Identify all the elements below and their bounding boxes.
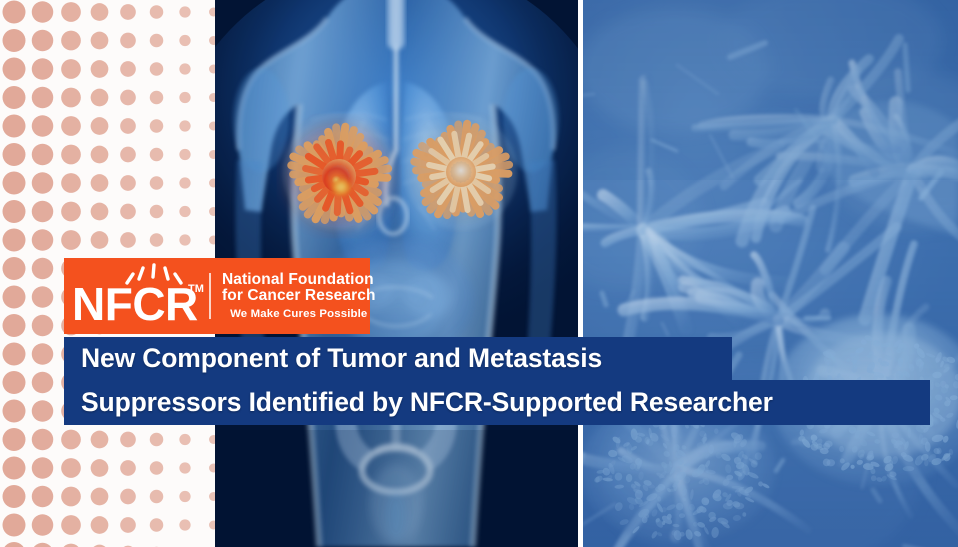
halftone-dot [120,489,136,505]
halftone-dot [150,5,164,19]
halftone-dot [120,175,136,191]
cells-color-tint-overlay [583,0,958,547]
halftone-dot [150,233,164,247]
halftone-dot [179,462,190,473]
logo-divider [209,273,211,319]
halftone-dot [3,314,26,337]
halftone-dot [120,232,136,248]
halftone-dot [150,433,164,447]
halftone-dot [61,88,81,108]
halftone-dot [150,148,164,162]
halftone-dot [3,485,26,508]
headline-line-2: Suppressors Identified by NFCR-Supported… [64,380,930,425]
halftone-dot [179,149,190,160]
halftone-dot [179,35,190,46]
halftone-dot [179,177,190,188]
halftone-dot [3,428,26,451]
halftone-dot [61,31,81,51]
halftone-dot [120,460,136,476]
halftone-dot [150,461,164,475]
svg-text:TM: TM [188,283,204,295]
halftone-dot [3,542,26,547]
halftone-dot [179,206,190,217]
halftone-dot [150,518,164,532]
halftone-dot [32,286,54,308]
halftone-dot [3,343,26,366]
halftone-dot [32,1,54,23]
halftone-dot [32,87,54,109]
halftone-dot [61,430,81,450]
halftone-dot [91,516,109,534]
halftone-dot [32,172,54,194]
halftone-dot [91,117,109,135]
halftone-dot [120,204,136,220]
halftone-dot [91,32,109,50]
halftone-dot [120,147,136,163]
halftone-dot [91,231,109,249]
halftone-dot [61,145,81,165]
halftone-dot [61,458,81,478]
halftone-dot [32,58,54,80]
halftone-dot [91,89,109,107]
halftone-dot [3,1,26,24]
halftone-dot [32,400,54,422]
halftone-dot [179,234,190,245]
halftone-dot [32,486,54,508]
halftone-dot [91,3,109,21]
halftone-dot [61,515,81,535]
halftone-dot [3,143,26,166]
halftone-dot [32,343,54,365]
halftone-dot [179,434,190,445]
halftone-dot [32,429,54,451]
halftone-dot [61,59,81,79]
halftone-dot [3,257,26,280]
halftone-dot [150,205,164,219]
halftone-dot [150,176,164,190]
halftone-dot [3,371,26,394]
halftone-dot [179,491,190,502]
halftone-dot [3,172,26,195]
halftone-dot [3,400,26,423]
halftone-dot [32,30,54,52]
logo-name-line-1: National Foundation [222,272,376,289]
halftone-dot [32,201,54,223]
halftone-dot [91,174,109,192]
halftone-dot [150,34,164,48]
halftone-dot [150,91,164,105]
halftone-dot [32,543,54,547]
halftone-dot [61,487,81,507]
halftone-dot [3,286,26,309]
halftone-dot [179,63,190,74]
halftone-dot [120,4,136,20]
halftone-dot [3,200,26,223]
halftone-dot [32,372,54,394]
halftone-dot [32,514,54,536]
halftone-dot [150,119,164,133]
halftone-dot [3,229,26,252]
halftone-dot [61,544,81,547]
halftone-dot [91,431,109,449]
halftone-dot [120,517,136,533]
logo-organization-name: National Foundation for Cancer Research … [222,272,376,321]
halftone-dot [179,120,190,131]
halftone-dot [91,488,109,506]
halftone-dot [32,457,54,479]
halftone-dot [3,86,26,109]
article-hero-banner: NFCR TM National Foundation for Cancer R… [0,0,958,547]
halftone-dot [91,459,109,477]
cancer-cell-micrograph-panel [583,0,958,547]
halftone-dot [91,203,109,221]
halftone-dot [61,173,81,193]
halftone-dot [179,519,190,530]
halftone-dot [3,457,26,480]
halftone-dot [3,514,26,537]
svg-text:NFCR: NFCR [72,278,198,330]
halftone-dot [61,230,81,250]
halftone-dot [3,58,26,81]
halftone-dot [32,258,54,280]
halftone-dot [32,315,54,337]
halftone-dot [61,202,81,222]
halftone-dot [91,146,109,164]
halftone-dot [120,61,136,77]
halftone-dot [3,29,26,52]
halftone-dot [179,6,190,17]
logo-name-line-2: for Cancer Research [222,288,376,305]
nfcr-logo[interactable]: NFCR TM National Foundation for Cancer R… [64,258,370,334]
halftone-dot [61,2,81,22]
logo-tagline: We Make Cures Possible [222,308,376,320]
halftone-dot [150,62,164,76]
halftone-dot [91,60,109,78]
nfcr-wordmark: NFCR TM [64,258,209,334]
halftone-dot [32,229,54,251]
headline-line-1: New Component of Tumor and Metastasis [64,337,732,380]
halftone-dot [120,118,136,134]
halftone-dot [120,432,136,448]
halftone-dot [3,115,26,138]
halftone-dot [120,33,136,49]
halftone-dot [32,144,54,166]
halftone-dot [32,115,54,137]
halftone-dot [179,92,190,103]
halftone-dot [61,116,81,136]
halftone-dot [120,90,136,106]
halftone-dot [150,490,164,504]
